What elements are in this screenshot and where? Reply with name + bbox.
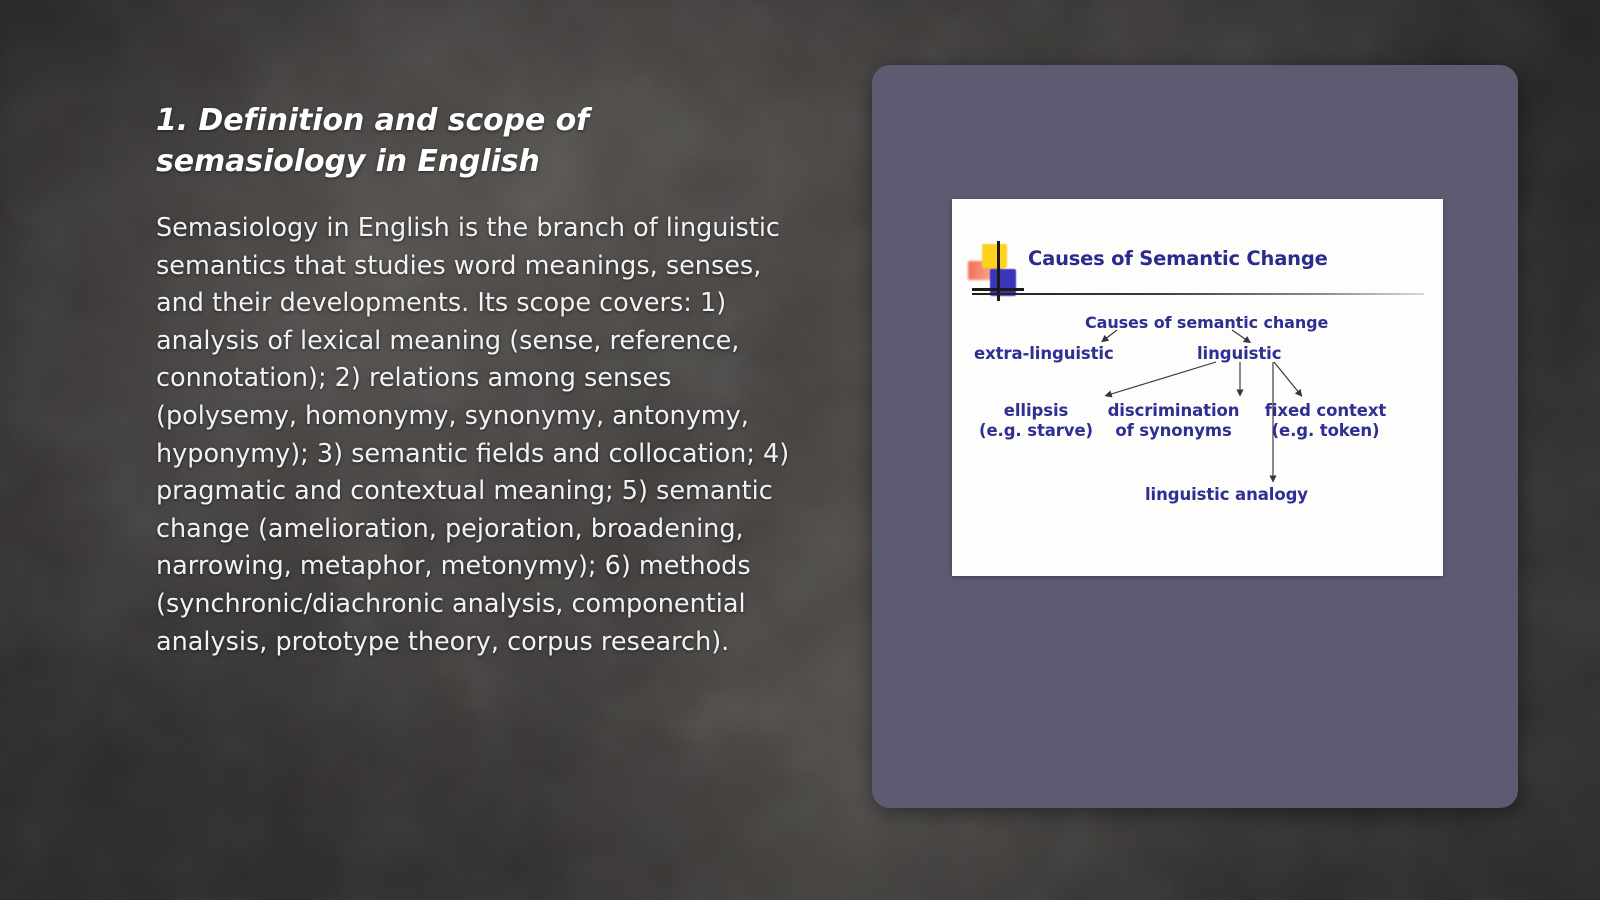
- diagram-header: Causes of Semantic Change: [952, 199, 1443, 309]
- slide-body-text: Semasiology in English is the branch of …: [156, 210, 816, 661]
- diagram-title-divider: [972, 293, 1424, 295]
- logo-horizontal-bar: [972, 288, 1024, 291]
- logo-yellow-block: [982, 244, 1007, 268]
- logo-vertical-bar: [997, 241, 1000, 301]
- diagram-node-linguistic: linguistic: [1197, 344, 1281, 364]
- diagram-node-ellipsis: ellipsis (e.g. starve): [975, 401, 1097, 441]
- diagram-node-extra-linguistic: extra-linguistic: [974, 344, 1114, 364]
- diagram-title: Causes of Semantic Change: [1028, 247, 1328, 270]
- diagram-node-fixed-context: fixed context (e.g. token): [1257, 401, 1394, 441]
- image-panel: Causes of Semantic Change: [872, 65, 1518, 808]
- logo-blue-block: [990, 269, 1016, 296]
- diagram-node-root: Causes of semantic change: [1085, 313, 1328, 333]
- diagram-node-linguistic-analogy: linguistic analogy: [1145, 485, 1308, 505]
- diagram-node-discrimination-of-synonyms: discrimination of synonyms: [1102, 401, 1245, 441]
- page-title: 1. Definition and scope of semasiology i…: [156, 100, 626, 182]
- diagram-card: Causes of Semantic Change: [952, 199, 1443, 576]
- colored-blocks-logo-icon: [966, 241, 1028, 301]
- slide-canvas: 1. Definition and scope of semasiology i…: [0, 0, 1600, 900]
- slide-text-column: 1. Definition and scope of semasiology i…: [156, 100, 826, 661]
